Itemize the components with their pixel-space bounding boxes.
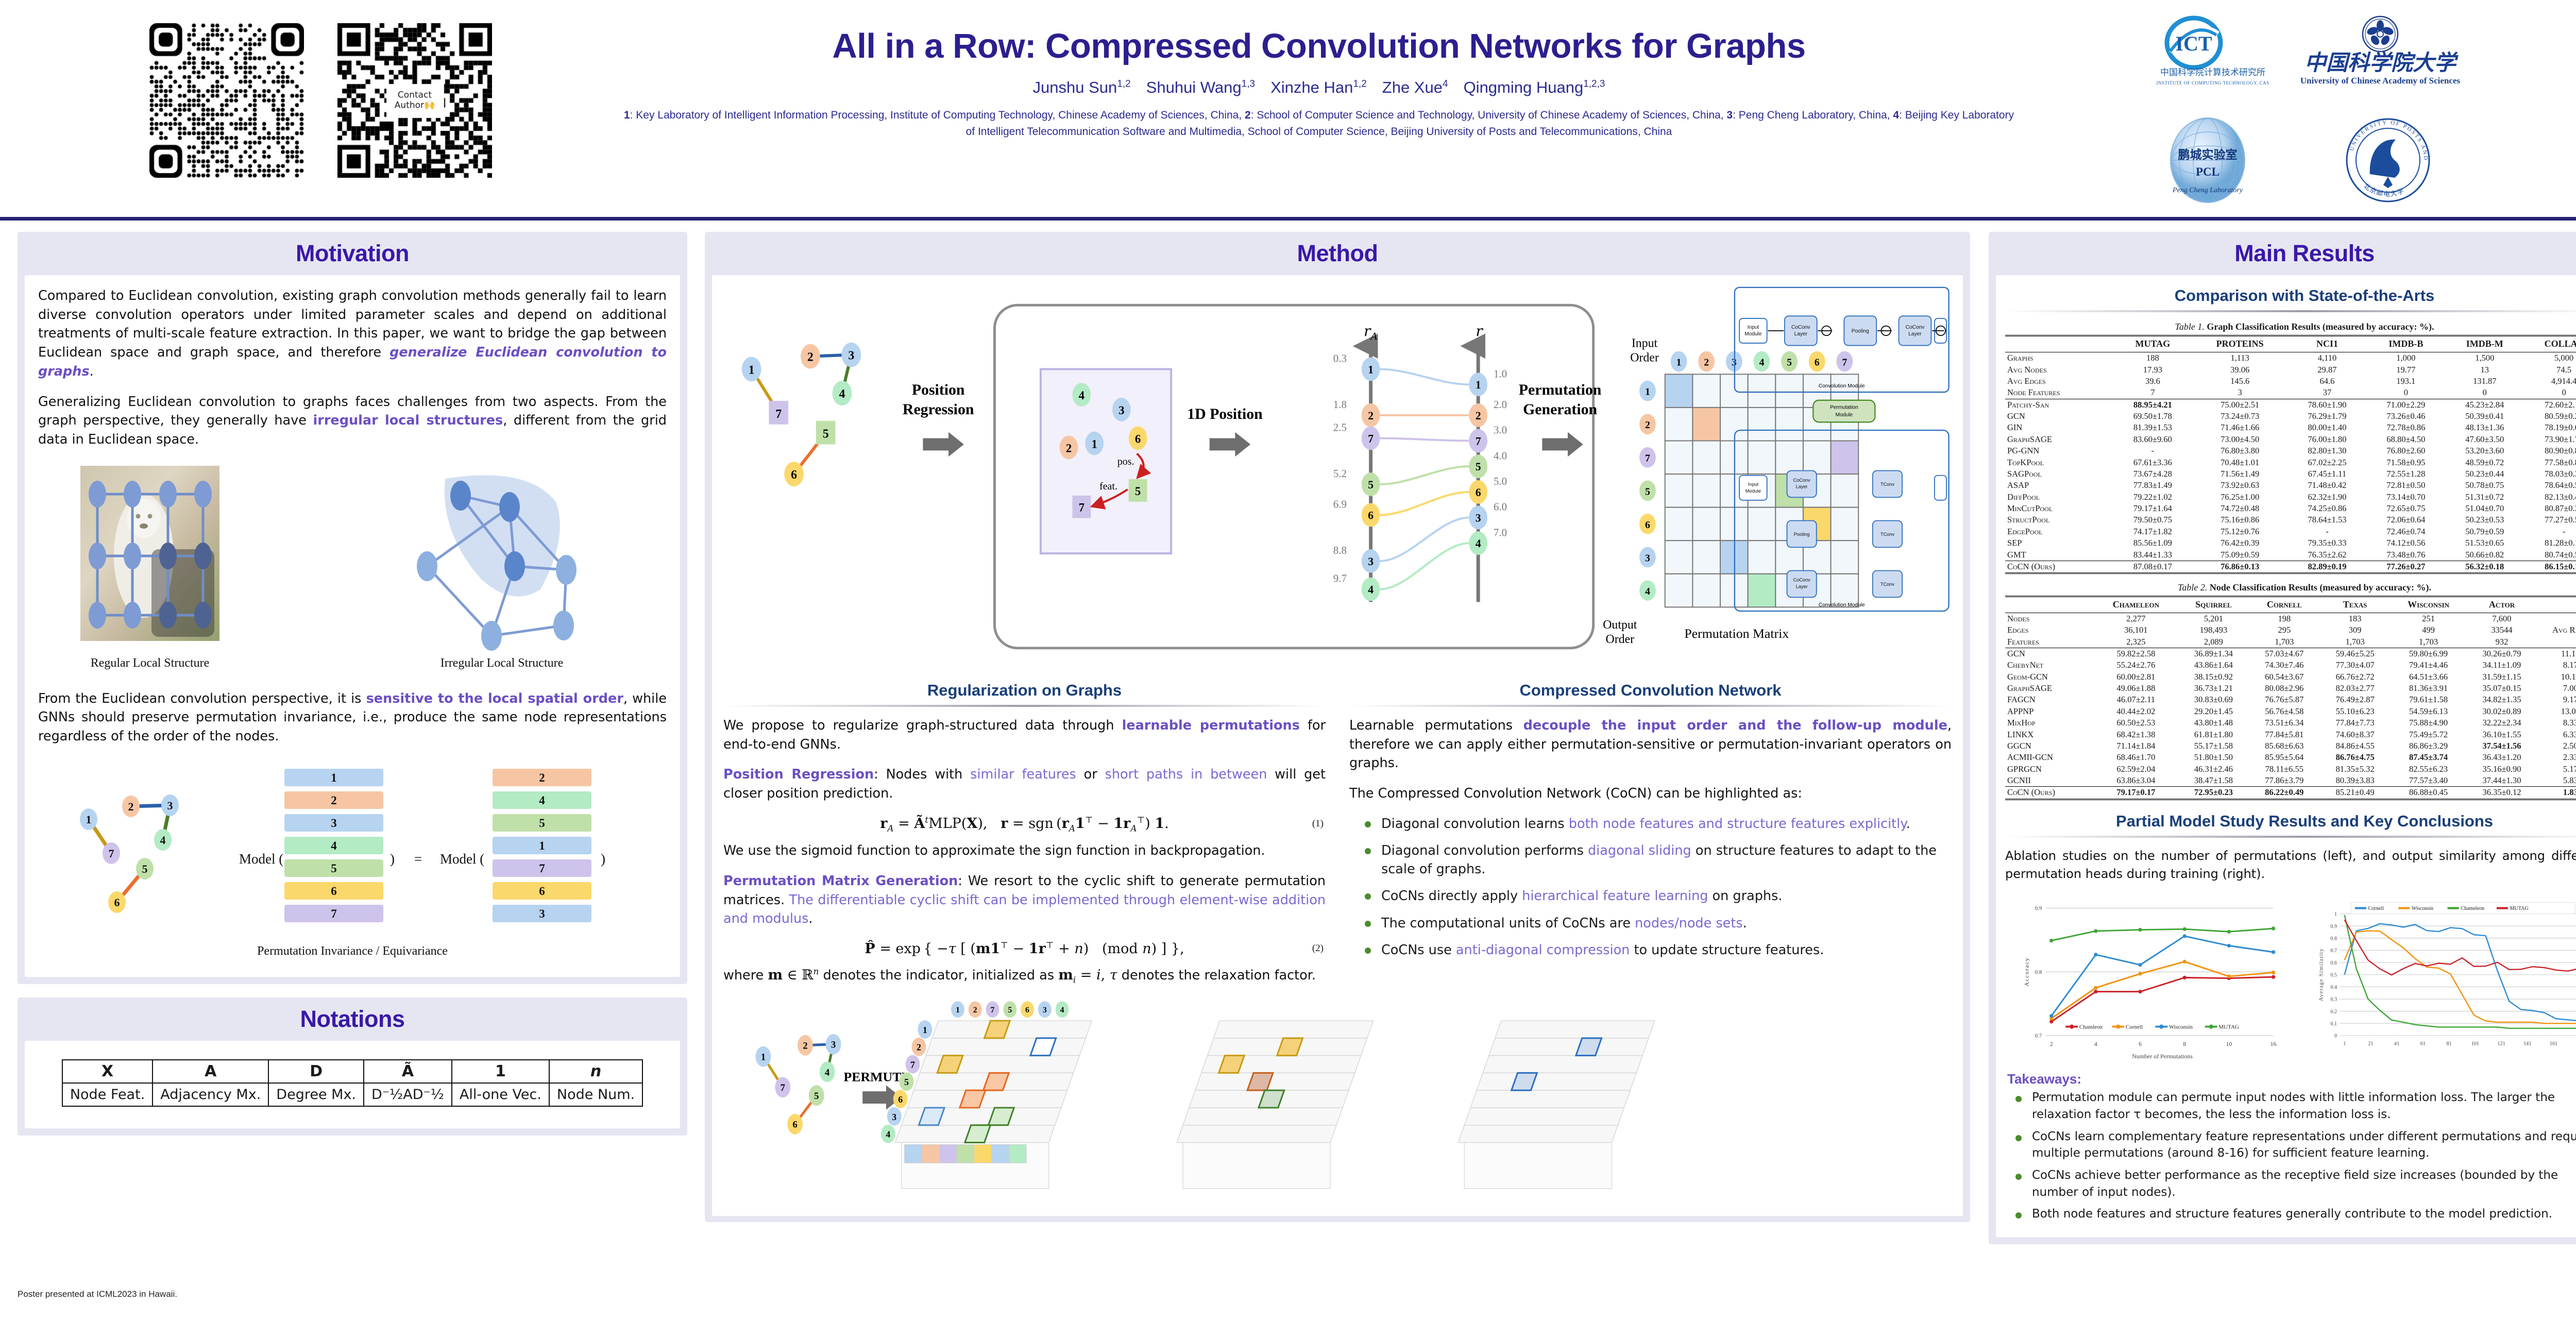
notation-symbol: 1 [452,1060,549,1083]
result-value: 46.31±2.46 [2178,764,2249,775]
stat-value: 251 [2391,613,2466,624]
table-stat-row: Avg Nodes17.9339.0629.8719.771374.5 [2005,364,2576,375]
legend-marker [2070,1025,2074,1029]
stat-value: 198 [2249,613,2319,624]
avg-rank-value: 8.17 [2537,659,2576,671]
notation-symbol: A [152,1060,268,1083]
stat-value: 1,703 [2249,636,2319,648]
chart-label: 0.9 [2035,905,2042,911]
result-value: 37.54±1.56 [2466,740,2537,752]
takeaway-bullet: CoCNs achieve better performance as the … [2014,1167,2576,1200]
result-value: 70.48±1.01 [2192,456,2288,468]
svg-text:): ) [390,851,395,867]
chart-label: 41 [2395,1041,2400,1047]
result-value: 85.21±0.49 [2320,787,2391,799]
motivation-p3-text: From the Euclidean convolution perspecti… [38,691,366,706]
avg-rank-header: Avg Rank [2537,624,2576,636]
result-value: 50.66±0.82 [2445,549,2524,561]
output-order-label-node: 1 [1645,386,1650,398]
permutation-cell [1692,441,1720,475]
result-value: 55.17±1.58 [2178,740,2249,752]
method-name: GraphSAGE [2005,434,2113,445]
chart-label: 121 [2498,1041,2505,1047]
notation-meaning: Adjacency Mx. [152,1083,268,1106]
svg-text:4: 4 [1079,389,1084,402]
method-left-p5: where m ∈ ℝn denotes the indicator, init… [723,965,1326,986]
takeaways-title: Takeaways: [2007,1071,2576,1087]
svg-text:4: 4 [839,387,845,401]
avg-rank-value: 8.33 [2537,717,2576,729]
divider-4 [2005,836,2576,838]
result-value: 75.09±0.59 [2192,549,2288,561]
svg-text:TConv: TConv [1880,582,1895,587]
result-value: 83.60±9.60 [2113,434,2192,445]
result-value: 87.45±3.74 [2391,752,2466,763]
svg-text:4: 4 [825,1067,830,1078]
equation-1: rA = ÃtMLP(X), r = sgn (rA1⊤ − 1rA⊤) 1. … [723,815,1326,833]
feature-cube-2 [1177,1021,1373,1189]
result-value: 78.11±6.55 [2249,764,2319,775]
cube-col-node-label: 7 [991,1006,995,1014]
result-value: 36.10±1.55 [2466,729,2537,740]
result-value: 86.15±0.10 [2524,561,2576,573]
position-link [1380,543,1469,589]
svg-text:中国科学院大学: 中国科学院大学 [2304,51,2459,75]
svg-text:r: r [1476,323,1484,340]
table-stat-row: Features2,3252,0891,7031,7031,703932 [2005,636,2576,648]
stat-value: 193.1 [2366,376,2445,387]
result-value: 81.39±1.53 [2113,422,2192,433]
chart-label: 161 [2550,1041,2557,1047]
avg-rank-value: 2.50 [2537,740,2576,752]
stat-value: 0 [2366,387,2445,399]
stat-value: 13 [2445,364,2524,375]
method-name: GCNII [2005,775,2094,787]
stat-value: 131.87 [2445,376,2524,387]
table2-caption: Table 2. Node Classification Results (me… [2005,582,2576,593]
result-value: 53.20±3.60 [2445,445,2524,456]
cube-row-node-label: 4 [886,1129,890,1139]
table-col-header [2005,596,2094,613]
table-row: GCN69.50±1.7873.24±0.7376.29±1.7973.26±0… [2005,411,2576,422]
method-name: LINKX [2005,729,2094,740]
process-input-graph: 1 2 3 4 5 6 7 [756,1034,841,1135]
axis-node-label: 4 [1476,537,1481,550]
legend-marker [2209,1025,2213,1029]
stat-value: 39.06 [2192,364,2288,375]
model-label-right: Model ( [440,851,484,867]
data-point [2094,986,2097,990]
data-point [2183,976,2187,979]
result-value: 81.35±5.32 [2320,764,2391,775]
feature-cube-3 [1458,1021,1654,1189]
result-value: 86.76±4.75 [2320,752,2391,763]
result-value: 80.00±1.40 [2288,422,2367,433]
permutation-cell [1748,540,1776,574]
column-left: Motivation Compared to Euclidean convolu… [18,232,687,1149]
permutation-row-label: 4 [539,794,545,807]
result-value: 76.80±3.80 [2192,445,2288,456]
svg-text:Input: Input [1748,325,1759,330]
axis-node-label: 7 [1368,432,1374,445]
result-value: 84.86±4.55 [2320,740,2391,752]
result-value: 75.00±2.51 [2192,399,2288,411]
result-value: 35.07±0.15 [2466,683,2537,694]
stat-value: 1,113 [2192,352,2288,364]
motivation-body: Compared to Euclidean convolution, exist… [25,275,680,977]
result-value: 43.86±1.64 [2178,659,2249,671]
result-value: 83.44±1.33 [2113,549,2192,561]
result-value: 78.64±0.50 [2524,480,2576,491]
result-value: 67.45±1.11 [2288,468,2367,480]
table-row: Patchy-San88.95±4.2175.00±2.5178.60±1.90… [2005,399,2576,411]
svg-text:Pooling: Pooling [1794,532,1810,537]
result-value: 76.00±1.80 [2288,434,2367,445]
result-value: 80.87±0.34 [2524,503,2576,514]
stat-value: 499 [2391,624,2466,636]
svg-text:1: 1 [86,813,92,826]
result-value: 75.12±0.76 [2192,526,2288,537]
data-point [2272,975,2275,979]
stat-value: 37 [2288,387,2367,399]
result-value: 73.90±1.70 [2524,434,2576,445]
motivation-paragraph-2: Generalizing Euclidean convolution to gr… [38,393,667,449]
permutation-cell [1692,508,1720,541]
results-panel: Main Results Comparison with State-of-th… [1989,232,2576,1244]
paper-qr-code[interactable] [149,23,304,178]
table-row: ACMII-GCN68.46±1.7051.80±1.5085.95±5.648… [2005,752,2576,763]
svg-text:=: = [414,851,422,867]
takeaway-bullet: Permutation module can permute input nod… [2014,1089,2576,1123]
result-value: 80.90±0.80 [2524,445,2576,456]
table-stat-row: Node Features7337000 [2005,387,2576,399]
position-link [1380,492,1469,515]
result-value: 49.06±1.88 [2094,683,2178,694]
permutation-row-label: 6 [331,885,337,898]
stat-value: 29.87 [2288,364,2367,375]
result-value: 68.46±1.70 [2094,752,2178,763]
result-value: 76.80±2.60 [2366,445,2445,456]
position-link [1380,466,1469,484]
result-value: 50.23±0.53 [2445,514,2524,526]
poster-header: ContactAuthor🙌 All in a Row: Compressed … [0,0,2576,221]
svg-text:Convolution Module: Convolution Module [1819,602,1865,608]
result-value: 80.39±3.83 [2320,775,2391,787]
result-value: 32.22±2.34 [2466,717,2537,729]
method-name: SAGPool [2005,468,2113,480]
ra-value: 9.7 [1333,572,1347,585]
result-value: 79.17±0.17 [2094,787,2178,799]
author-name: Junshu Sun1,2 [1033,78,1131,96]
permutation-cell [1831,474,1859,508]
avg-rank-value: 11.17 [2537,648,2576,659]
table-row: GGCN71.14±1.8455.17±1.5885.68±6.6384.86±… [2005,740,2576,752]
result-value: 38.15±0.92 [2178,671,2249,683]
chart-label: 0.3 [2331,997,2337,1003]
chart-label: 2 [2050,1040,2053,1047]
table-col-header: Chameleon [2094,596,2178,613]
result-value: 76.76±5.87 [2249,694,2319,705]
avg-rank-value: 9.17 [2537,694,2576,705]
svg-text:5: 5 [823,428,829,441]
table-row: Geom-GCN60.00±2.8138.15±0.9260.54±3.6766… [2005,671,2576,683]
permutation-cell [1775,374,1803,408]
sota-subhead: Comparison with State-of-the-Arts [2005,286,2576,305]
stack-right: 2451763 [493,769,591,922]
stat-label: Edges [2005,624,2094,636]
motivation-p3-highlight: sensitive to the local spatial order [366,691,623,706]
result-value: 88.95±4.21 [2113,399,2192,411]
stat-value: 295 [2249,624,2319,636]
r-value: 4.0 [1494,449,1507,462]
table-row: GIN81.39±1.5371.46±1.6680.00±1.4072.78±0… [2005,422,2576,433]
result-value: 85.68±6.63 [2249,740,2319,752]
avg-rank-value: 6.33 [2537,729,2576,740]
stat-value: 5,000 [2524,352,2576,364]
result-value: 40.44±2.02 [2094,706,2178,717]
stat-value: 0 [2445,387,2524,399]
logo-block: ICT 中国科学院计算技术研究所 INSTITUTE OF COMPUTING … [2154,9,2576,210]
stat-value: 0 [2524,387,2576,399]
feature-row [932,1021,1092,1038]
chart-label: 0.7 [2331,948,2337,954]
equation-1-number: (1) [1312,818,1324,830]
stat-value: 2,325 [2094,636,2178,648]
chart-label: 61 [2420,1041,2426,1047]
r-value: 1.0 [1494,367,1507,380]
axis-node-label: 6 [1368,509,1374,521]
axis-node-label: 3 [1476,512,1481,524]
result-value: 30.83±0.69 [2178,694,2249,705]
svg-text:Generation: Generation [1523,401,1597,418]
svg-text:7: 7 [775,408,782,421]
table-row: ASAP77.83±1.4973.92±0.6371.48±0.4272.81±… [2005,480,2576,491]
bullet-highlight: nodes/node sets [1635,916,1743,931]
node-feature-band [905,1144,922,1163]
chart-label: 1 [2335,911,2337,917]
author-name: Zhe Xue4 [1382,78,1448,96]
ablation-text: Ablation studies on the number of permut… [2005,847,2576,883]
result-value: 80.08±2.96 [2249,683,2319,694]
stat-label: Graphs [2005,352,2113,364]
method-name: PG-GNN [2005,445,2113,456]
table-col-header: PROTEINS [2192,336,2288,352]
table-col-header: Texas [2320,596,2391,613]
result-value: 87.08±0.17 [2113,561,2192,573]
result-value: 61.81±1.80 [2178,729,2249,740]
result-value: 73.26±0.46 [2366,411,2445,422]
bullet-highlight: both node features and structure feature… [1569,816,1906,832]
permutation-cell [1831,508,1859,541]
motivation-panel: Motivation Compared to Euclidean convolu… [18,232,687,984]
stat-value: 17.93 [2113,364,2192,375]
result-value: 82.89±0.19 [2288,561,2367,573]
regular-caption: Regular Local Structure [91,656,210,670]
table-row: StructPool79.50±0.7575.16±0.8678.64±1.53… [2005,514,2576,526]
result-value: 80.74±0.54 [2524,549,2576,561]
svg-text:CoConv: CoConv [1791,325,1811,330]
permutations-accuracy-chart: 0.70.80.924681016Number of PermutationsA… [2005,894,2296,1064]
axis-node-label: 2 [1476,410,1481,422]
table-stat-row: Graphs1881,1134,1101,0001,5005,000 [2005,352,2576,364]
chart-label: 0.7 [2035,1033,2042,1039]
permutation-cell [1748,374,1776,408]
permutation-cell [1748,508,1776,541]
cocn-process-diagram: 1 2 3 4 5 6 7 PERMUTE 12756341275634 CO [723,1000,1952,1206]
motivation-paragraph-1: Compared to Euclidean convolution, exist… [38,286,667,381]
method-name: GCN [2005,411,2113,422]
table-col-header: IMDB-B [2366,336,2445,352]
legend-marker [2159,1025,2163,1029]
contact-author-qr-code[interactable]: ContactAuthor🙌 [337,23,492,178]
method-name: GPRGCN [2005,764,2094,775]
ra-value: 2.5 [1333,421,1347,434]
stat-value: 1,500 [2445,352,2524,364]
series-line [2052,928,2274,941]
result-value: 37.44±1.30 [2466,775,2537,787]
svg-text:Layer: Layer [1794,331,1808,337]
result-value: 71.14±1.84 [2094,740,2178,752]
permutation-cell [1831,441,1859,475]
method-name: GGCN [2005,740,2094,752]
permutation-cell [1803,441,1831,475]
bullet-highlight: diagonal sliding [1588,843,1691,858]
svg-text:2: 2 [1066,442,1072,454]
table-row: MinCutPool79.17±1.6474.72±0.4874.25±0.86… [2005,503,2576,514]
avg-rank-value: 2.33 [2537,752,2576,763]
svg-text:Module: Module [1836,412,1853,418]
svg-text:): ) [601,851,605,867]
input-order-label-node: 2 [1704,357,1709,368]
result-value: 73.14±0.70 [2366,492,2445,503]
method-right-section: Compressed Convolution Network Learnable… [1349,678,1952,997]
chart-label: 141 [2524,1041,2532,1047]
notations-title: Notations [18,997,687,1041]
title-block: All in a Row: Compressed Convolution Net… [582,28,2056,140]
result-value: 59.46±5.25 [2320,648,2391,659]
result-value: 64.51±3.66 [2391,671,2466,683]
method-name: MinCutPool [2005,503,2113,514]
table-row: APPNP40.44±2.0229.20±1.4556.76±4.5855.10… [2005,706,2576,717]
table-col-header: Cornell [2249,596,2319,613]
position-link [1380,438,1469,441]
ablation-charts: 0.70.80.924681016Number of PermutationsA… [2005,894,2576,1064]
column-right: Main Results Comparison with State-of-th… [1989,232,2576,1258]
r-value: 2.0 [1494,398,1507,411]
result-value: 77.83±1.49 [2113,480,2192,491]
result-value: 82.55±6.23 [2391,764,2466,775]
stat-value: 1,703 [2391,636,2466,648]
result-value: 76.42±0.39 [2192,537,2288,549]
cube-col-node-label: 5 [1008,1006,1012,1014]
permutation-cell [1665,474,1693,508]
node-feature-band [974,1144,992,1163]
result-value: 73.48±0.76 [2366,549,2445,561]
position-link [1380,518,1469,561]
result-value: 86.86±3.29 [2391,740,2466,752]
result-value: 38.47±1.58 [2178,775,2249,787]
notation-meaning: D⁻½AD⁻½ [364,1083,452,1106]
permutation-row-label: 1 [331,771,337,784]
permutation-row-label: 7 [331,907,337,920]
result-value: 71.58±0.95 [2366,456,2445,468]
notations-meaning-row: Node Feat.Adjacency Mx.Degree Mx.D⁻½AD⁻½… [62,1083,642,1106]
svg-text:CoConv: CoConv [1793,578,1810,583]
result-value: 78.19±0.63 [2524,422,2576,433]
notation-symbol: X [62,1060,152,1083]
stat-value: 1,000 [2366,352,2445,364]
column-middle: Method 1 2 [705,232,1970,1236]
similarity-training-chart: 00.10.20.30.40.50.60.70.80.9112141618110… [2301,894,2576,1064]
feature-row [1495,1021,1655,1038]
graph-classification-table: MUTAGPROTEINSNCI1IMDB-BIMDB-MCOLLABGraph… [2005,335,2576,575]
chart-label: 101 [2471,1041,2479,1047]
result-value: 77.30±4.07 [2320,659,2391,671]
method-name: GraphSAGE [2005,683,2094,694]
output-order-label-node: 4 [1645,586,1650,597]
feature-row [1214,1021,1374,1038]
result-value: 72.81±0.50 [2366,480,2445,491]
pos-label: pos. [1117,456,1134,467]
result-value: 68.80±4.50 [2366,434,2445,445]
position-axes: rA r 0.31.82.55.26.98.89.7127563411.022.… [1333,323,1507,602]
axis-node-label: 1 [1368,363,1374,376]
stat-value: 183 [2320,613,2391,624]
method-name: Patchy-San [2005,399,2113,411]
data-point [2227,944,2231,948]
result-value: - [2288,526,2367,537]
chart-label: 0.8 [2331,936,2337,942]
r-value: 6.0 [1494,501,1507,513]
chart-label: MUTAG [2218,1024,2239,1030]
ra-value: 8.8 [1333,544,1347,556]
bullet-text: CoCNs directly apply [1381,888,1522,904]
svg-text:Regression: Regression [903,401,974,418]
result-value: 76.35±2.62 [2288,549,2367,561]
data-point [2138,928,2142,932]
svg-text:4: 4 [160,834,166,847]
chart-label: 81 [2447,1041,2452,1047]
author-name: Shuhui Wang1,3 [1146,78,1255,96]
stat-value: 145.6 [2192,376,2288,387]
permutation-matrix-caption: Permutation Matrix [1684,626,1789,641]
position-link [1380,369,1469,384]
method-panel: Method 1 2 [705,232,1970,1222]
cube-col-node-label: 4 [1060,1006,1064,1014]
input-order-label-node: 4 [1759,357,1765,368]
result-value: 50.39±0.41 [2445,411,2524,422]
result-value: 66.76±2.72 [2320,671,2391,683]
stat-value: 3 [2192,387,2288,399]
chart-label: Chameleon [2461,906,2485,911]
data-point [2138,972,2142,976]
method-left-p2: Position Regression: Nodes with similar … [723,765,1326,803]
stat-value: 188 [2113,352,2192,364]
embedding-panel [1041,369,1171,553]
chart-label: 8 [2183,1040,2186,1047]
result-value: - [2113,445,2192,456]
cocn-bullet: CoCNs directly apply hierarchical featur… [1364,887,1952,905]
table-row: PG-GNN-76.80±3.8082.80±1.3076.80±2.6053.… [2005,445,2576,456]
cube-col-node-label: 1 [956,1006,960,1014]
input-order-label: Input [1632,337,1658,350]
result-value: 77.27±0.51 [2524,514,2576,526]
data-point [2227,930,2231,934]
result-value: 36.73±1.21 [2178,683,2249,694]
result-value: 73.51±6.34 [2249,717,2319,729]
stat-value: 198,493 [2178,624,2249,636]
table-col-header: MUTAG [2113,336,2192,352]
